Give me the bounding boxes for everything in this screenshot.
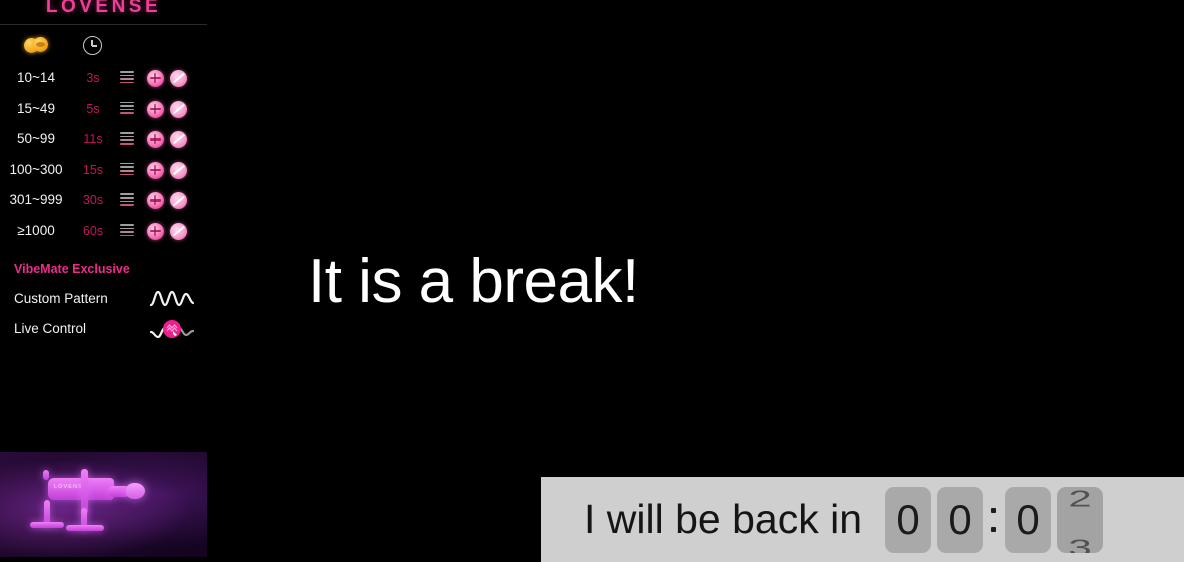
machine-icon[interactable] bbox=[147, 162, 164, 179]
exclusive-item-label: Custom Pattern bbox=[14, 286, 108, 312]
tier-duration-label: 30s bbox=[72, 185, 114, 216]
tier-duration-label: 5s bbox=[72, 94, 114, 125]
countdown-digit-incoming: 3 bbox=[1057, 536, 1103, 553]
bars-icon bbox=[120, 132, 135, 147]
no-entry-icon[interactable] bbox=[170, 101, 187, 118]
tier-row[interactable]: ≥100060s bbox=[0, 216, 207, 247]
no-entry-icon[interactable] bbox=[170, 131, 187, 148]
countdown-digit-flipping: 23 bbox=[1057, 487, 1103, 553]
exclusive-item-live-control[interactable]: Live Control bbox=[0, 316, 207, 342]
exclusive-item-label: Live Control bbox=[14, 316, 86, 342]
tier-row[interactable]: 50~9911s bbox=[0, 124, 207, 155]
bars-icon bbox=[120, 224, 135, 239]
tier-table-header bbox=[0, 32, 207, 60]
machine-icon[interactable] bbox=[147, 223, 164, 240]
bars-icon bbox=[120, 71, 135, 86]
waveform-icon bbox=[150, 288, 194, 310]
no-entry-icon[interactable] bbox=[170, 192, 187, 209]
tier-duration-label: 3s bbox=[72, 63, 114, 94]
product-tip bbox=[126, 483, 145, 499]
countdown-separator bbox=[986, 487, 1002, 553]
tier-range-label: 301~999 bbox=[0, 185, 72, 216]
tier-duration-label: 11s bbox=[72, 124, 114, 155]
exclusive-item-custom-pattern[interactable]: Custom Pattern bbox=[0, 286, 207, 312]
bars-icon bbox=[120, 102, 135, 117]
bars-icon bbox=[120, 163, 135, 178]
countdown-message: I will be back in bbox=[584, 496, 862, 543]
product-thumbnail[interactable]: LOVENSE bbox=[0, 452, 207, 557]
tier-row[interactable]: 10~143s bbox=[0, 63, 207, 94]
machine-icon[interactable] bbox=[147, 101, 164, 118]
sidebar-divider bbox=[0, 24, 207, 25]
no-entry-icon[interactable] bbox=[170, 223, 187, 240]
clock-icon bbox=[83, 36, 102, 55]
countdown-digits: 00023 bbox=[882, 487, 1106, 553]
tier-duration-label: 15s bbox=[72, 155, 114, 186]
countdown-banner: I will be back in 00023 bbox=[541, 477, 1184, 562]
tier-row[interactable]: 100~30015s bbox=[0, 155, 207, 186]
bars-icon bbox=[120, 193, 135, 208]
countdown-digit: 0 bbox=[1005, 487, 1051, 553]
tier-range-label: 100~300 bbox=[0, 155, 72, 186]
product-foot-left bbox=[30, 522, 64, 528]
no-entry-icon[interactable] bbox=[170, 162, 187, 179]
break-headline: It is a break! bbox=[308, 246, 639, 317]
machine-icon[interactable] bbox=[147, 192, 164, 209]
tier-range-label: ≥1000 bbox=[0, 216, 72, 247]
tier-row[interactable]: 301~99930s bbox=[0, 185, 207, 216]
product-knob bbox=[43, 470, 49, 480]
countdown-digit: 0 bbox=[937, 487, 983, 553]
countdown-digit: 0 bbox=[885, 487, 931, 553]
no-entry-icon[interactable] bbox=[170, 70, 187, 87]
countdown-digit-outgoing: 2 bbox=[1057, 487, 1103, 510]
brand-logo-text: LOVENSE bbox=[46, 0, 161, 18]
tier-duration-label: 60s bbox=[72, 216, 114, 247]
exclusive-section-title: VibeMate Exclusive bbox=[14, 262, 130, 276]
machine-icon[interactable] bbox=[147, 70, 164, 87]
tier-range-label: 10~14 bbox=[0, 63, 72, 94]
tier-row[interactable]: 15~495s bbox=[0, 94, 207, 125]
brand-logo: LOVENSE bbox=[0, 0, 207, 20]
tier-range-label: 50~99 bbox=[0, 124, 72, 155]
live-control-icon bbox=[150, 318, 194, 340]
sidebar: LOVENSE 10~143s15~495s50~9911s100~30015s… bbox=[0, 0, 207, 562]
tier-list: 10~143s15~495s50~9911s100~30015s301~9993… bbox=[0, 63, 207, 247]
coins-icon bbox=[22, 35, 58, 57]
tier-range-label: 15~49 bbox=[0, 94, 72, 125]
product-foot-right bbox=[66, 525, 104, 531]
machine-icon[interactable] bbox=[147, 131, 164, 148]
